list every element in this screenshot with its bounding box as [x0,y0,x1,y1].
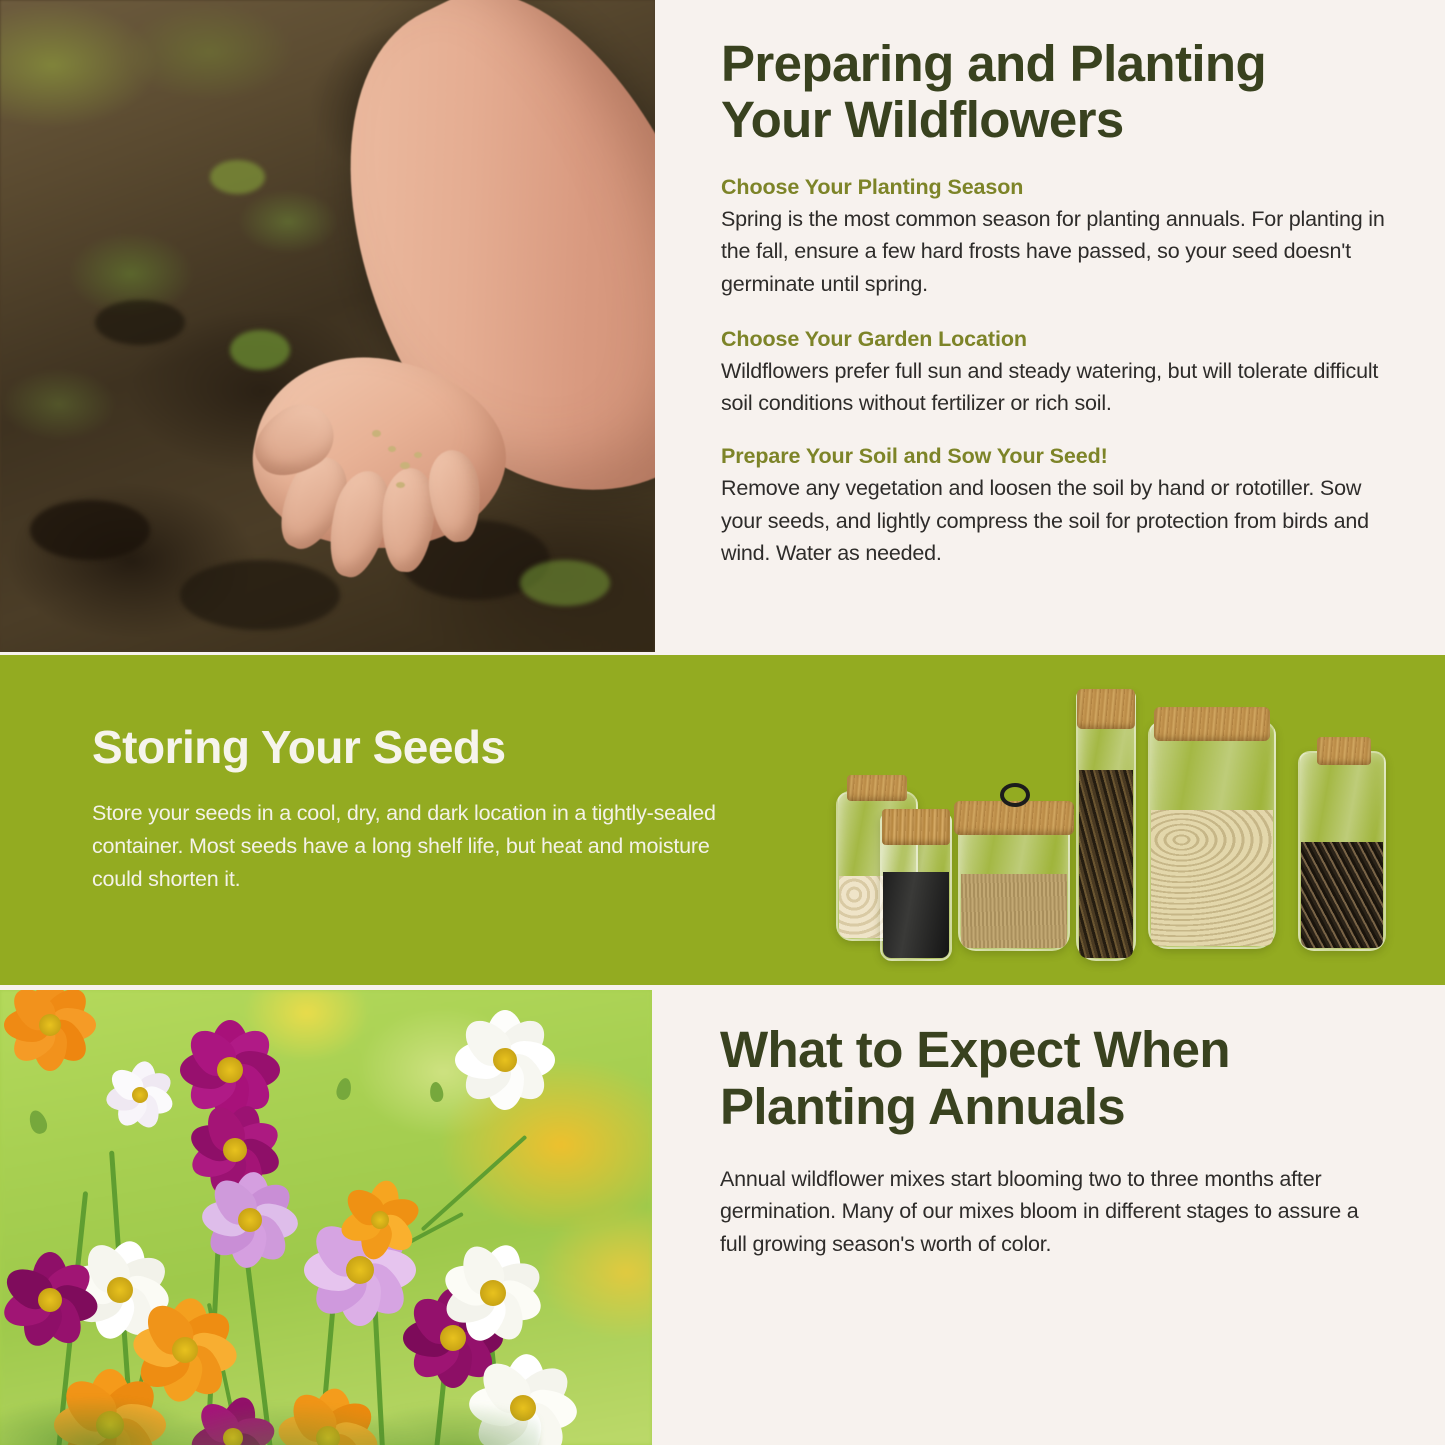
block-planting-season: Choose Your Planting Season Spring is th… [721,175,1390,300]
subheading-prepare-soil: Prepare Your Soil and Sow Your Seed! [721,444,1390,469]
flower-center [371,1211,389,1229]
cork-lid [1077,689,1135,729]
jar-fine-tan-seeds [958,823,1070,951]
jar-contents-tan-seed [961,874,1067,948]
expect-title: What to Expect WhenPlanting Annuals [720,1021,1390,1135]
infographic-page: Preparing and PlantingYour Wildflowers C… [0,0,1445,1445]
cork-lid [1317,737,1371,765]
jar-striped-seeds [1298,751,1386,951]
subheading-garden-location: Choose Your Garden Location [721,327,1390,352]
preparing-text-panel: Preparing and PlantingYour Wildflowers C… [655,0,1445,652]
foliage [0,1325,540,1445]
jar-black-seeds [880,813,952,961]
soil-clod [180,560,340,630]
jar-contents-dark-seed [1079,770,1133,958]
page-title: Preparing and PlantingYour Wildflowers [721,36,1390,148]
flower-center [217,1057,243,1083]
soil-sprout [230,330,290,370]
seed [372,430,381,437]
body-garden-location: Wildflowers prefer full sun and steady w… [721,355,1390,420]
expect-title-line-1: What to Expect When [720,1021,1230,1078]
flower-white [440,1000,570,1120]
cork-lid [882,809,950,845]
block-prepare-soil: Prepare Your Soil and Sow Your Seed! Rem… [721,444,1390,569]
flower-center [38,1288,62,1312]
seed [396,482,405,488]
jar-contents-black-seed [883,872,949,958]
flower-center [480,1280,506,1306]
seed [400,462,410,469]
block-garden-location: Choose Your Garden Location Wildflowers … [721,327,1390,420]
jar-contents-pumpkin-seed [1151,810,1273,946]
soil-clod [30,500,150,560]
expect-title-line-2: Planting Annuals [720,1078,1125,1135]
cork-lid [1154,707,1270,741]
storing-title: Storing Your Seeds [92,723,732,771]
body-planting-season: Spring is the most common season for pla… [721,203,1390,300]
seed [414,452,422,458]
soil-sprout [520,560,610,606]
flower-orange [0,990,110,1080]
flower-orange [330,1175,430,1265]
section-storing-your-seeds: Storing Your Seeds Store your seeds in a… [0,655,1445,985]
flower-white [95,1055,185,1135]
flower-center [39,1014,61,1036]
soil-clod [95,300,185,345]
page-title-line-2: Your Wildflowers [721,91,1124,148]
section-what-to-expect: What to Expect WhenPlanting Annuals Annu… [0,985,1445,1445]
expect-text-panel: What to Expect WhenPlanting Annuals Annu… [652,985,1445,1445]
storing-body: Store your seeds in a cool, dry, and dar… [92,797,732,895]
jar-pumpkin-seeds [1148,721,1276,949]
section-preparing-and-planting: Preparing and PlantingYour Wildflowers C… [0,0,1445,655]
jar-tall-dark-seeds [1076,691,1136,961]
page-title-line-1: Preparing and Planting [721,35,1266,92]
flower-center [493,1048,517,1072]
expect-body: Annual wildflower mixes start blooming t… [720,1163,1390,1260]
flower-center [238,1208,262,1232]
body-prepare-soil: Remove any vegetation and loosen the soi… [721,472,1390,569]
jar-contents-striped-seed [1301,842,1383,948]
seed [388,446,396,452]
image-wildflower-meadow [0,990,652,1445]
cork-lid [847,775,907,801]
soil-sprout [210,160,265,194]
lid-knob [1000,783,1030,807]
flower-center [132,1087,148,1103]
image-hand-sowing-seeds [0,0,655,652]
subheading-planting-season: Choose Your Planting Season [721,175,1390,200]
image-seed-jars [818,673,1418,973]
flower-center [223,1138,247,1162]
storing-text-panel: Storing Your Seeds Store your seeds in a… [92,723,732,895]
